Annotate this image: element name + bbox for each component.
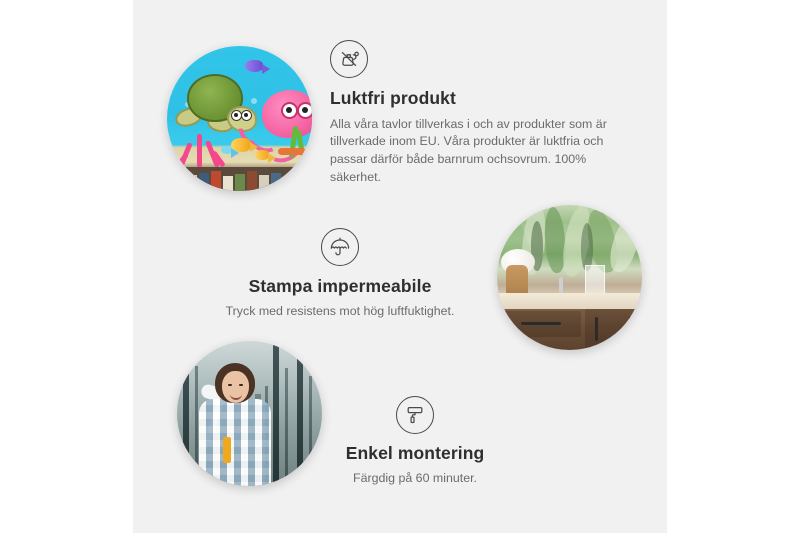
product-feature-infographic: Luktfri produkt Alla våra tavlor tillver…	[0, 0, 800, 533]
bathroom-wallpaper-photo	[497, 205, 642, 350]
no-fragrance-icon	[330, 40, 368, 78]
paint-roller-icon	[396, 396, 434, 434]
feature-heading: Luktfri produkt	[330, 88, 640, 110]
feature-block-easy-mounting: Enkel montering Färgdig på 60 minuter.	[300, 396, 530, 487]
feature-body: Tryck med resistens mot hög luftfuktighe…	[190, 303, 490, 321]
feature-heading: Stampa impermeabile	[190, 276, 490, 298]
umbrella-icon	[321, 228, 359, 266]
feature-body: Färgdig på 60 minuter.	[300, 470, 530, 488]
feature-block-odourless: Luktfri produkt Alla våra tavlor tillver…	[330, 40, 640, 186]
feature-body: Alla våra tavlor tillverkas i och av pro…	[330, 116, 640, 186]
feature-heading: Enkel montering	[300, 443, 530, 465]
feature-block-waterproof: Stampa impermeabile Tryck med resistens …	[190, 228, 490, 320]
underwater-cartoon-photo	[167, 46, 312, 191]
